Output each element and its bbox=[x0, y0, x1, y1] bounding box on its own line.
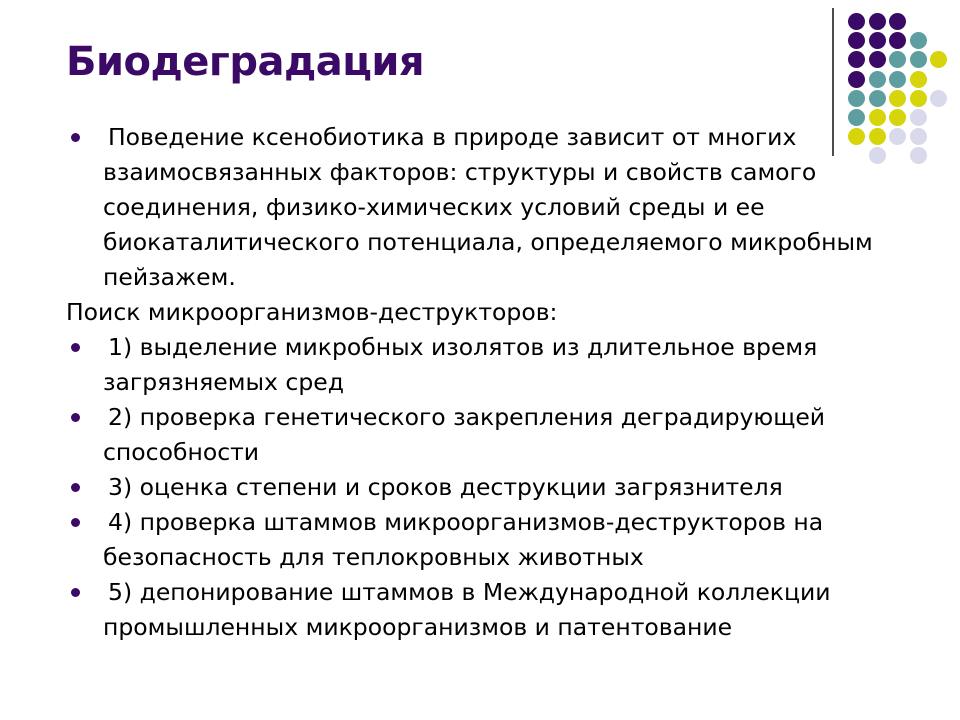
bullet-dot-icon bbox=[71, 343, 80, 352]
paragraph-text: 4) проверка штаммов микроорганизмов-дест… bbox=[103, 505, 892, 575]
bullet-list-item: Поведение ксенобиотика в природе зависит… bbox=[62, 120, 892, 295]
bullet-dot-icon bbox=[71, 518, 80, 527]
bullet-list-item: 2) проверка генетического закрепления де… bbox=[62, 400, 892, 470]
decorative-dot-purple bbox=[889, 13, 906, 30]
paragraph-text: 2) проверка генетического закрепления де… bbox=[103, 400, 892, 470]
decorative-dot-purple bbox=[848, 51, 865, 68]
decorative-dot-purple bbox=[848, 13, 865, 30]
paragraph-text: Поиск микроорганизмов-деструкторов: bbox=[66, 295, 892, 330]
bullet-list-item: 3) оценка степени и сроков деструкции за… bbox=[62, 470, 892, 505]
decorative-dot-yellow bbox=[910, 71, 927, 88]
decorative-dot-purple bbox=[848, 32, 865, 49]
decorative-dot-teal bbox=[910, 32, 927, 49]
paragraph-text: 1) выделение микробных изолятов из длите… bbox=[103, 330, 892, 400]
bullet-list-item: 1) выделение микробных изолятов из длите… bbox=[62, 330, 892, 400]
decorative-dot-teal bbox=[910, 51, 927, 68]
slide-canvas: Биодеградация Поведение ксенобиотика в п… bbox=[0, 0, 960, 720]
decorative-dot-lavender bbox=[930, 90, 947, 107]
body-paragraph: Поиск микроорганизмов-деструкторов: bbox=[62, 295, 892, 330]
bullet-dot-icon bbox=[71, 588, 80, 597]
decorative-dot-yellow bbox=[889, 90, 906, 107]
decorative-dot-lavender bbox=[910, 109, 927, 126]
decorative-dot-purple bbox=[869, 13, 886, 30]
bullet-dot-icon bbox=[71, 413, 80, 422]
decorative-dot-lavender bbox=[910, 147, 927, 164]
decorative-dot-teal bbox=[889, 71, 906, 88]
slide-title: Биодеградация bbox=[66, 38, 806, 86]
bullet-list-item: 4) проверка штаммов микроорганизмов-дест… bbox=[62, 505, 892, 575]
decorative-dot-purple bbox=[869, 32, 886, 49]
decorative-dot-yellow bbox=[910, 90, 927, 107]
paragraph-text: 3) оценка степени и сроков деструкции за… bbox=[103, 470, 892, 505]
bullet-dot-icon bbox=[71, 483, 80, 492]
decorative-dot-teal bbox=[869, 90, 886, 107]
decorative-dot-purple bbox=[848, 71, 865, 88]
decorative-dot-teal bbox=[889, 51, 906, 68]
bullet-list-item: 5) депонирование штаммов в Международной… bbox=[62, 575, 892, 645]
decorative-dot-purple bbox=[889, 32, 906, 49]
bullet-dot-icon bbox=[71, 133, 80, 142]
decorative-dot-teal bbox=[869, 71, 886, 88]
paragraph-text: 5) депонирование штаммов в Международной… bbox=[103, 575, 892, 645]
decorative-dot-teal bbox=[848, 90, 865, 107]
slide-body: Поведение ксенобиотика в природе зависит… bbox=[62, 120, 892, 645]
paragraph-text: Поведение ксенобиотика в природе зависит… bbox=[103, 120, 892, 295]
decorative-dot-purple bbox=[869, 51, 886, 68]
decorative-dot-yellow bbox=[930, 51, 947, 68]
decorative-dot-lavender bbox=[910, 128, 927, 145]
